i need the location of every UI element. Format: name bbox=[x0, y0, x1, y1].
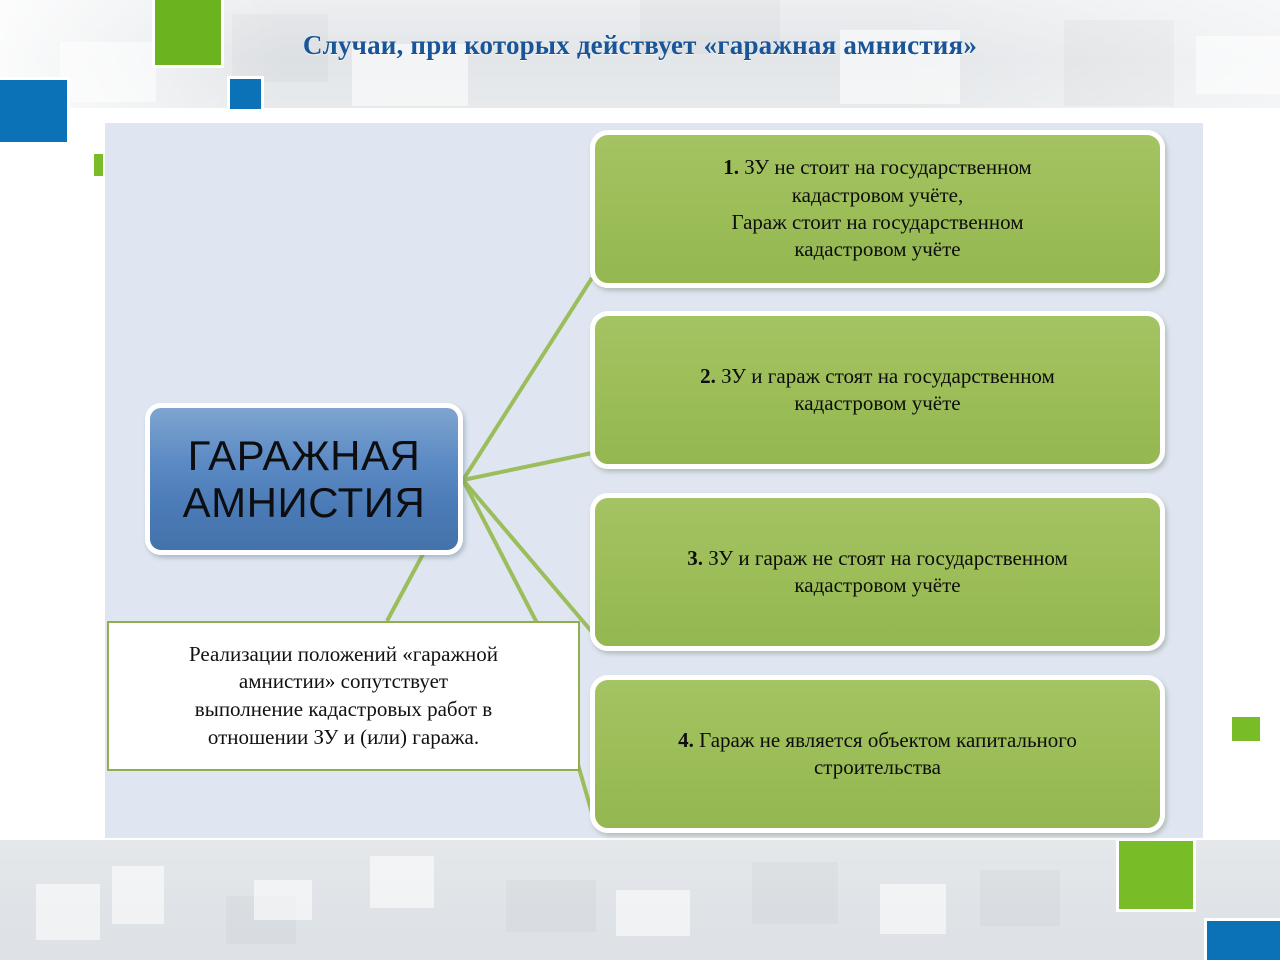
note-box-cadastral-works[interactable]: Реализации положений «гаражной амнистии»… bbox=[107, 621, 580, 771]
accent-square-green-small-left bbox=[91, 151, 106, 179]
case-card-3-line-2: кадастровом учёте bbox=[794, 573, 960, 597]
note-line-3: выполнение кадастровых работ в bbox=[195, 697, 492, 721]
ghost-square-i bbox=[112, 866, 164, 924]
case-card-1-line-3: Гараж стоит на государственном bbox=[731, 210, 1023, 234]
case-card-4[interactable]: 4. Гараж не является объектом капитально… bbox=[590, 675, 1165, 833]
ghost-square-q bbox=[980, 870, 1060, 926]
case-card-4-line-1: Гараж не является объектом капитального bbox=[699, 728, 1077, 752]
note-line-4: отношении ЗУ и (или) гаража. bbox=[208, 725, 479, 749]
case-card-1-text: 1. ЗУ не стоит на государственном кадаст… bbox=[723, 154, 1031, 263]
case-card-3-number: 3. bbox=[687, 546, 703, 570]
case-card-4-text: 4. Гараж не является объектом капитально… bbox=[678, 727, 1077, 782]
central-node-line-1: ГАРАЖНАЯ bbox=[188, 432, 421, 479]
ghost-square-m bbox=[506, 880, 596, 932]
ghost-square-k bbox=[254, 880, 312, 920]
accent-square-green-bottom-right bbox=[1116, 838, 1196, 912]
case-card-3[interactable]: 3. ЗУ и гараж не стоят на государственно… bbox=[590, 493, 1165, 651]
central-node-garage-amnesty[interactable]: ГАРАЖНАЯ АМНИСТИЯ bbox=[145, 403, 463, 555]
ghost-square-h bbox=[36, 884, 100, 940]
note-box-text: Реализации положений «гаражной амнистии»… bbox=[189, 641, 498, 752]
accent-square-blue-small-top bbox=[227, 76, 264, 112]
case-card-4-line-2: строительства bbox=[814, 755, 941, 779]
note-line-1: Реализации положений «гаражной bbox=[189, 642, 498, 666]
accent-square-blue-left bbox=[0, 77, 70, 145]
case-card-2-line-1: ЗУ и гараж стоят на государственном bbox=[721, 364, 1055, 388]
case-card-4-number: 4. bbox=[678, 728, 694, 752]
page-title: Случаи, при которых действует «гаражная … bbox=[0, 30, 1280, 61]
accent-square-blue-bottom-right bbox=[1204, 918, 1280, 960]
ghost-square-o bbox=[752, 862, 838, 924]
ghost-square-n bbox=[616, 890, 690, 936]
note-line-2: амнистии» сопутствует bbox=[239, 669, 448, 693]
case-card-2[interactable]: 2. ЗУ и гараж стоят на государственном к… bbox=[590, 311, 1165, 469]
central-node-line-2: АМНИСТИЯ bbox=[183, 479, 426, 526]
case-card-1-line-2: кадастровом учёте, bbox=[792, 183, 964, 207]
case-card-2-number: 2. bbox=[700, 364, 716, 388]
case-card-1-number: 1. bbox=[723, 155, 739, 179]
case-card-3-line-1: ЗУ и гараж не стоят на государственном bbox=[708, 546, 1067, 570]
central-node-label: ГАРАЖНАЯ АМНИСТИЯ bbox=[183, 432, 426, 526]
case-card-1-line-4: кадастровом учёте bbox=[794, 237, 960, 261]
slide-root: Случаи, при которых действует «гаражная … bbox=[0, 0, 1280, 960]
case-card-1-line-1: ЗУ не стоит на государственном bbox=[744, 155, 1031, 179]
case-card-3-text: 3. ЗУ и гараж не стоят на государственно… bbox=[687, 545, 1067, 600]
case-card-1[interactable]: 1. ЗУ не стоит на государственном кадаст… bbox=[590, 130, 1165, 288]
case-card-2-text: 2. ЗУ и гараж стоят на государственном к… bbox=[700, 363, 1055, 418]
case-card-2-line-2: кадастровом учёте bbox=[794, 391, 960, 415]
accent-square-green-small-right bbox=[1229, 714, 1263, 744]
ghost-square-p bbox=[880, 884, 946, 934]
ghost-square-l bbox=[370, 856, 434, 908]
